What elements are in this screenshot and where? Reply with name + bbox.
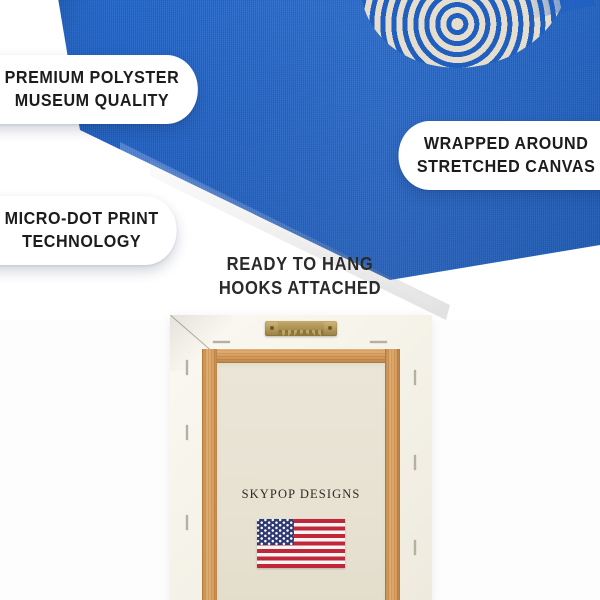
badge-premium-polyster: PREMIUM POLYSTER MUSEUM QUALITY xyxy=(0,55,198,124)
staple-right-lower xyxy=(414,540,416,555)
badge-line-1: WRAPPED AROUND xyxy=(417,132,595,155)
canvas-back-mockup: SKYPOP DESIGNS xyxy=(170,315,432,600)
stretcher-bar-right xyxy=(385,349,400,600)
infographic-stage: PREMIUM POLYSTER MUSEUM QUALITY WRAPPED … xyxy=(0,0,600,600)
ready-to-hang-note: READY TO HANG HOOKS ATTACHED xyxy=(0,252,600,300)
staple-right-upper xyxy=(414,370,416,385)
note-line-1: READY TO HANG xyxy=(24,252,576,276)
badge-line-1: PREMIUM POLYSTER xyxy=(5,66,180,89)
badge-line-2: STRETCHED CANVAS xyxy=(417,155,595,178)
staple-right-mid xyxy=(414,455,416,470)
note-line-2: HOOKS ATTACHED xyxy=(24,276,576,300)
badge-line-2: TECHNOLOGY xyxy=(5,230,159,253)
hanger-screw-hole-right xyxy=(328,326,332,330)
flag-stars xyxy=(257,519,294,545)
badge-wrapped-around: WRAPPED AROUND STRETCHED CANVAS xyxy=(398,121,600,190)
badge-line-2: MUSEUM QUALITY xyxy=(5,89,180,112)
staple-left-upper xyxy=(186,360,188,375)
hanger-teeth xyxy=(279,330,323,336)
staple-top-left xyxy=(213,341,230,343)
badge-line-1: MICRO-DOT PRINT xyxy=(5,207,159,230)
us-flag-icon xyxy=(257,519,345,568)
stretcher-bar-top xyxy=(202,349,400,363)
staple-left-mid xyxy=(186,425,188,440)
brand-label: SKYPOP DESIGNS xyxy=(170,487,432,502)
staple-left-lower xyxy=(186,515,188,530)
stretcher-bar-left xyxy=(202,349,217,600)
sawtooth-hanger-icon xyxy=(265,321,337,336)
hanger-screw-hole-left xyxy=(270,326,274,330)
flag-canton xyxy=(257,519,294,545)
staple-top-right xyxy=(370,341,387,343)
